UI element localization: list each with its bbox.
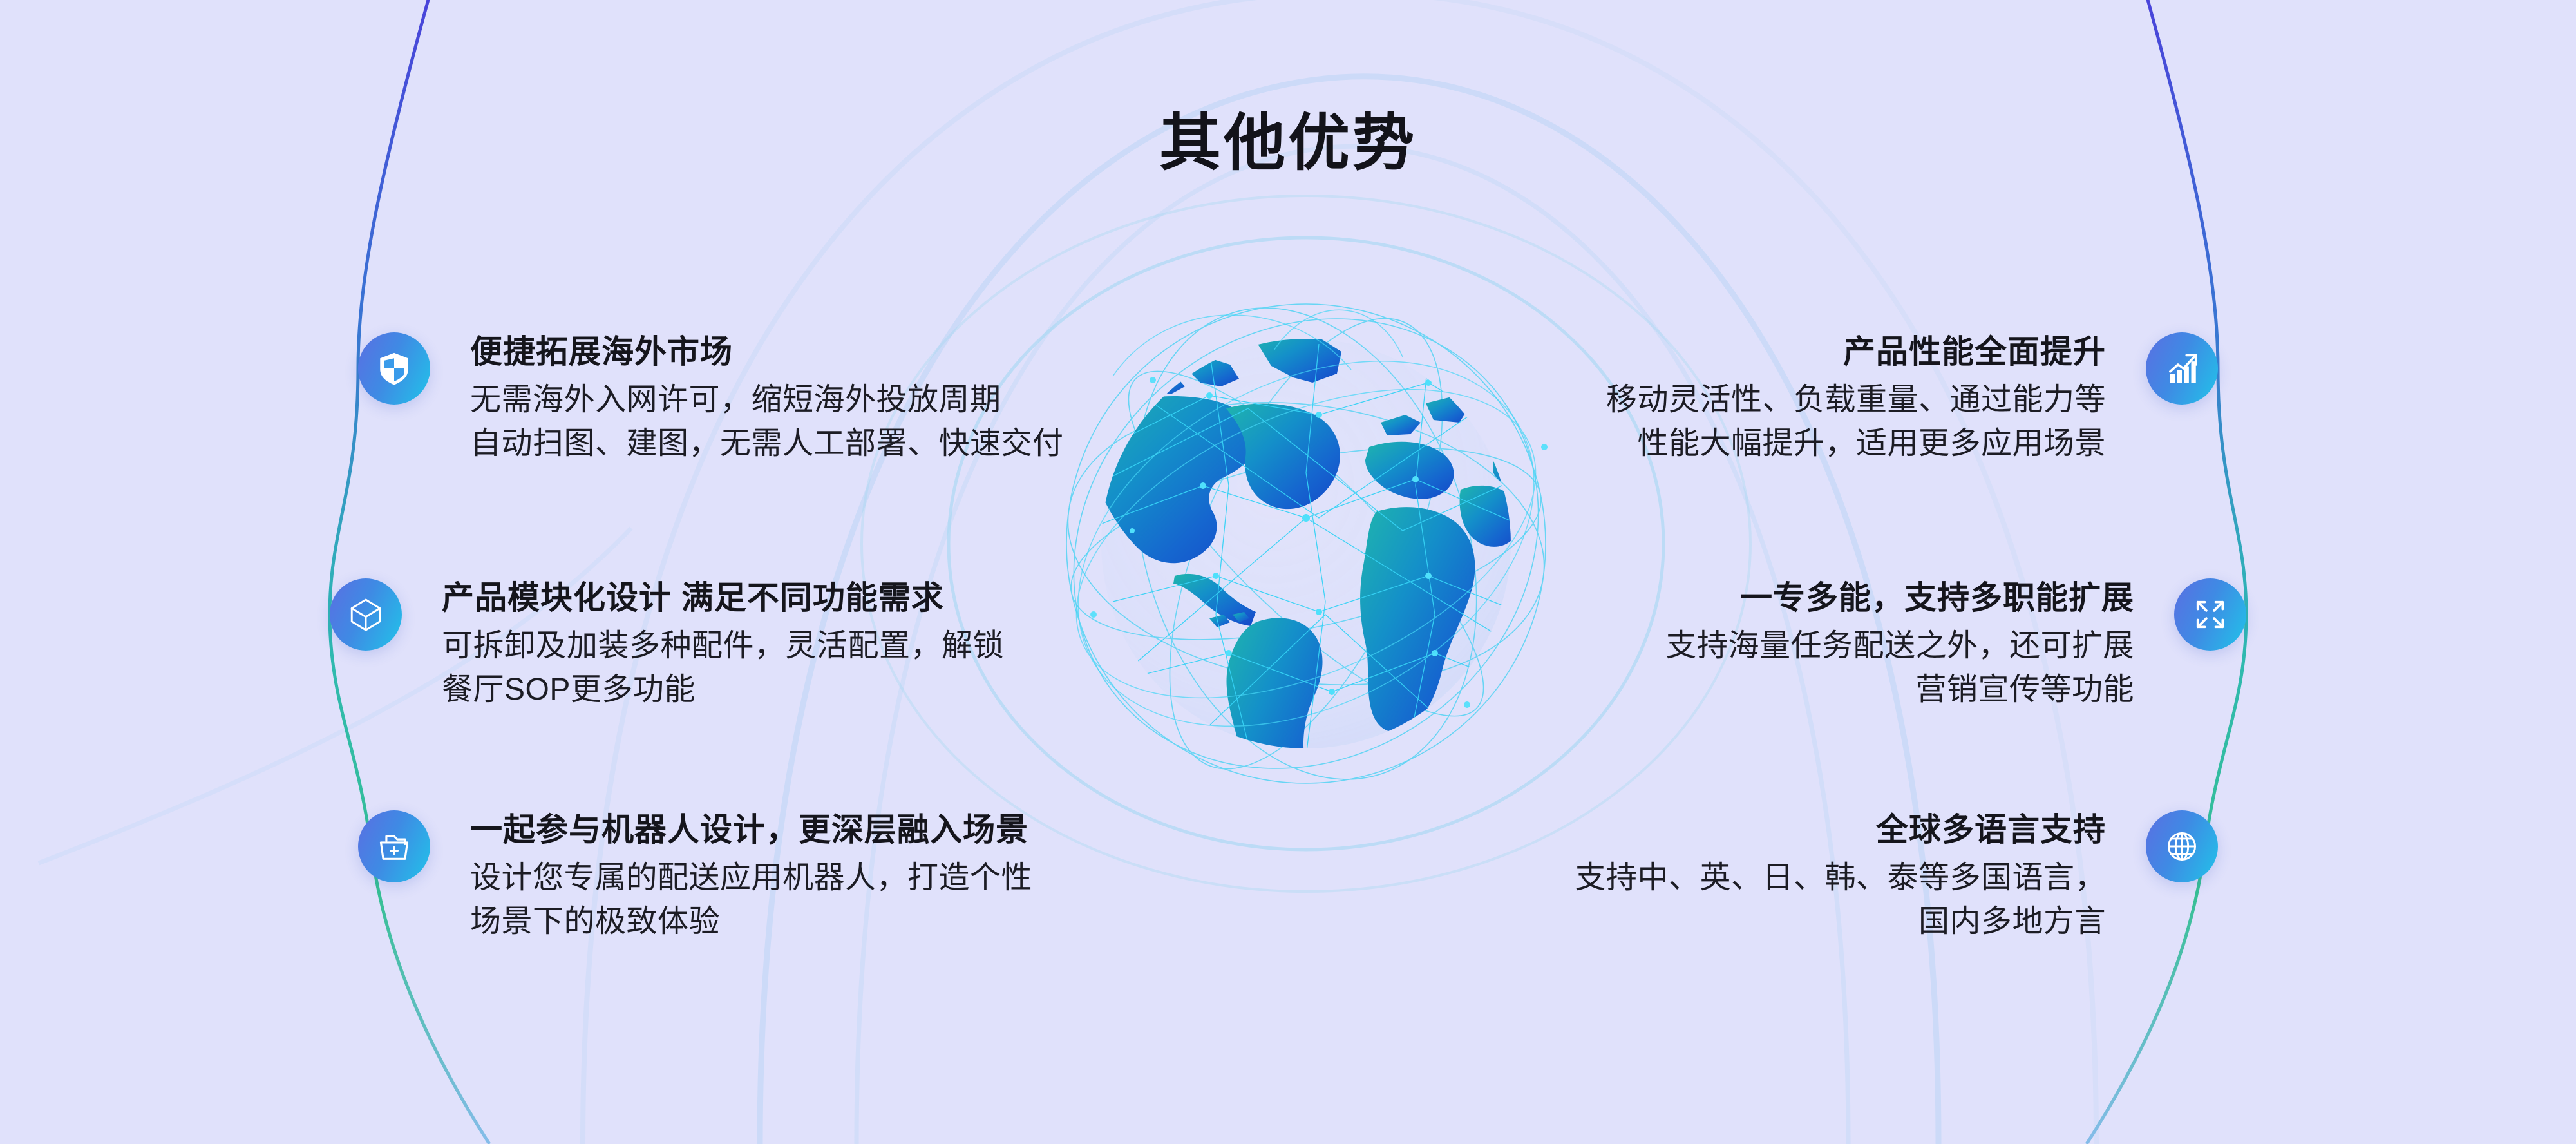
feature-item-multifunction[interactable]: 一专多能，支持多职能扩展 支持海量任务配送之外，还可扩展 营销宣传等功能 — [1665, 578, 2246, 712]
cube-icon — [330, 578, 402, 651]
feature-line: 可拆卸及加装多种配件，灵活配置，解锁 — [442, 624, 1004, 668]
feature-text: 产品性能全面提升 移动灵活性、负载重量、通过能力等 性能大幅提升，适用更多应用场… — [1606, 332, 2106, 466]
folder-plus-icon — [358, 810, 430, 882]
page-title: 其他优势 — [0, 110, 2576, 178]
feature-line: 性能大幅提升，适用更多应用场景 — [1637, 422, 2106, 466]
feature-title: 产品模块化设计 满足不同功能需求 — [442, 578, 944, 618]
feature-title: 全球多语言支持 — [1876, 810, 2106, 850]
feature-title: 一起参与机器人设计，更深层融入场景 — [470, 810, 1028, 850]
feature-line: 营销宣传等功能 — [1915, 668, 2134, 712]
feature-item-overseas-market[interactable]: 便捷拓展海外市场 无需海外入网许可，缩短海外投放周期 自动扫图、建图，无需人工部… — [358, 332, 1064, 466]
feature-line: 支持中、英、日、韩、泰等多国语言， — [1575, 856, 2106, 900]
shield-icon — [358, 332, 430, 405]
globe-icon — [2146, 810, 2218, 882]
feature-item-modular-design[interactable]: 产品模块化设计 满足不同功能需求 可拆卸及加装多种配件，灵活配置，解锁 餐厅SO… — [330, 578, 1004, 712]
feature-item-performance[interactable]: 产品性能全面提升 移动灵活性、负载重量、通过能力等 性能大幅提升，适用更多应用场… — [1606, 332, 2218, 466]
feature-title: 一专多能，支持多职能扩展 — [1740, 578, 2134, 618]
expand-arrows-icon — [2174, 578, 2246, 651]
feature-text: 全球多语言支持 支持中、英、日、韩、泰等多国语言， 国内多地方言 — [1575, 810, 2106, 944]
feature-line: 场景下的极致体验 — [470, 900, 720, 944]
world-globe-graphic — [1016, 254, 1596, 834]
feature-line: 国内多地方言 — [1918, 900, 2106, 944]
feature-line: 自动扫图、建图，无需人工部署、快速交付 — [470, 422, 1064, 466]
feature-text: 一专多能，支持多职能扩展 支持海量任务配送之外，还可扩展 营销宣传等功能 — [1665, 578, 2134, 712]
feature-line: 无需海外入网许可，缩短海外投放周期 — [470, 378, 1001, 422]
feature-line: 支持海量任务配送之外，还可扩展 — [1665, 624, 2134, 668]
feature-line: 设计您专属的配送应用机器人，打造个性 — [470, 856, 1032, 900]
feature-item-multilanguage[interactable]: 全球多语言支持 支持中、英、日、韩、泰等多国语言， 国内多地方言 — [1575, 810, 2218, 944]
feature-text: 一起参与机器人设计，更深层融入场景 设计您专属的配送应用机器人，打造个性 场景下… — [470, 810, 1032, 944]
feature-line: 移动灵活性、负载重量、通过能力等 — [1606, 378, 2106, 422]
feature-text: 产品模块化设计 满足不同功能需求 可拆卸及加装多种配件，灵活配置，解锁 餐厅SO… — [442, 578, 1004, 712]
feature-title: 产品性能全面提升 — [1843, 332, 2106, 372]
feature-title: 便捷拓展海外市场 — [470, 332, 733, 372]
feature-line: 餐厅SOP更多功能 — [442, 668, 696, 712]
advantages-section: 其他优势 — [0, 0, 2576, 1144]
feature-text: 便捷拓展海外市场 无需海外入网许可，缩短海外投放周期 自动扫图、建图，无需人工部… — [470, 332, 1064, 466]
feature-item-codesign[interactable]: 一起参与机器人设计，更深层融入场景 设计您专属的配送应用机器人，打造个性 场景下… — [358, 810, 1032, 944]
chart-up-icon — [2146, 332, 2218, 405]
